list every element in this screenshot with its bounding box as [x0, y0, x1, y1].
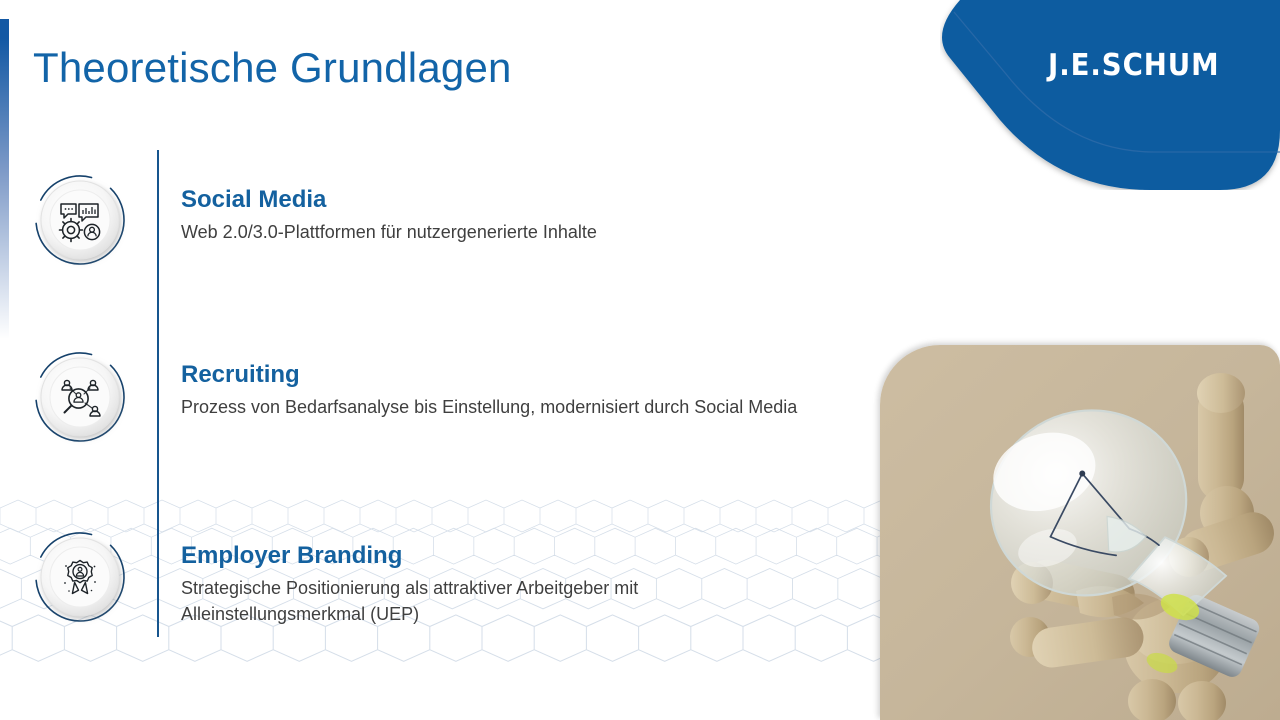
- body-line: Prozess von Bedarfsanalyse bis Einstellu…: [181, 394, 797, 420]
- content-divider: [157, 150, 159, 637]
- block-text-social-media: Social Media Web 2.0/3.0-Plattformen für…: [181, 186, 597, 245]
- block-body: Prozess von Bedarfsanalyse bis Einstellu…: [181, 394, 797, 420]
- decorative-photo-mannequin-lightbulb: [880, 345, 1280, 720]
- award-badge-icon: [33, 525, 128, 630]
- brand-corner-shape: J.E.SCHUM: [940, 0, 1280, 190]
- block-body: Web 2.0/3.0-Plattformen für nutzergeneri…: [181, 219, 597, 245]
- presentation-slide: J.E.SCHUM Theoretische Grundlagen: [0, 0, 1280, 720]
- talent-search-icon: [33, 345, 128, 450]
- social-media-icon: [33, 168, 128, 273]
- block-heading: Social Media: [181, 186, 597, 215]
- block-heading: Recruiting: [181, 361, 797, 390]
- block-body: Strategische Positionierung als attrakti…: [181, 575, 638, 627]
- block-heading: Employer Branding: [181, 542, 638, 571]
- block-text-recruiting: Recruiting Prozess von Bedarfsanalyse bi…: [181, 361, 797, 420]
- block-text-employer-branding: Employer Branding Strategische Positioni…: [181, 542, 638, 627]
- body-line: Strategische Positionierung als attrakti…: [181, 575, 638, 601]
- left-accent-bar: [0, 19, 9, 339]
- company-logo: J.E.SCHUM: [1048, 48, 1219, 83]
- page-title: Theoretische Grundlagen: [33, 44, 512, 92]
- body-line: Alleinstellungsmerkmal (UEP): [181, 601, 638, 627]
- body-line: Web 2.0/3.0-Plattformen für nutzergeneri…: [181, 219, 597, 245]
